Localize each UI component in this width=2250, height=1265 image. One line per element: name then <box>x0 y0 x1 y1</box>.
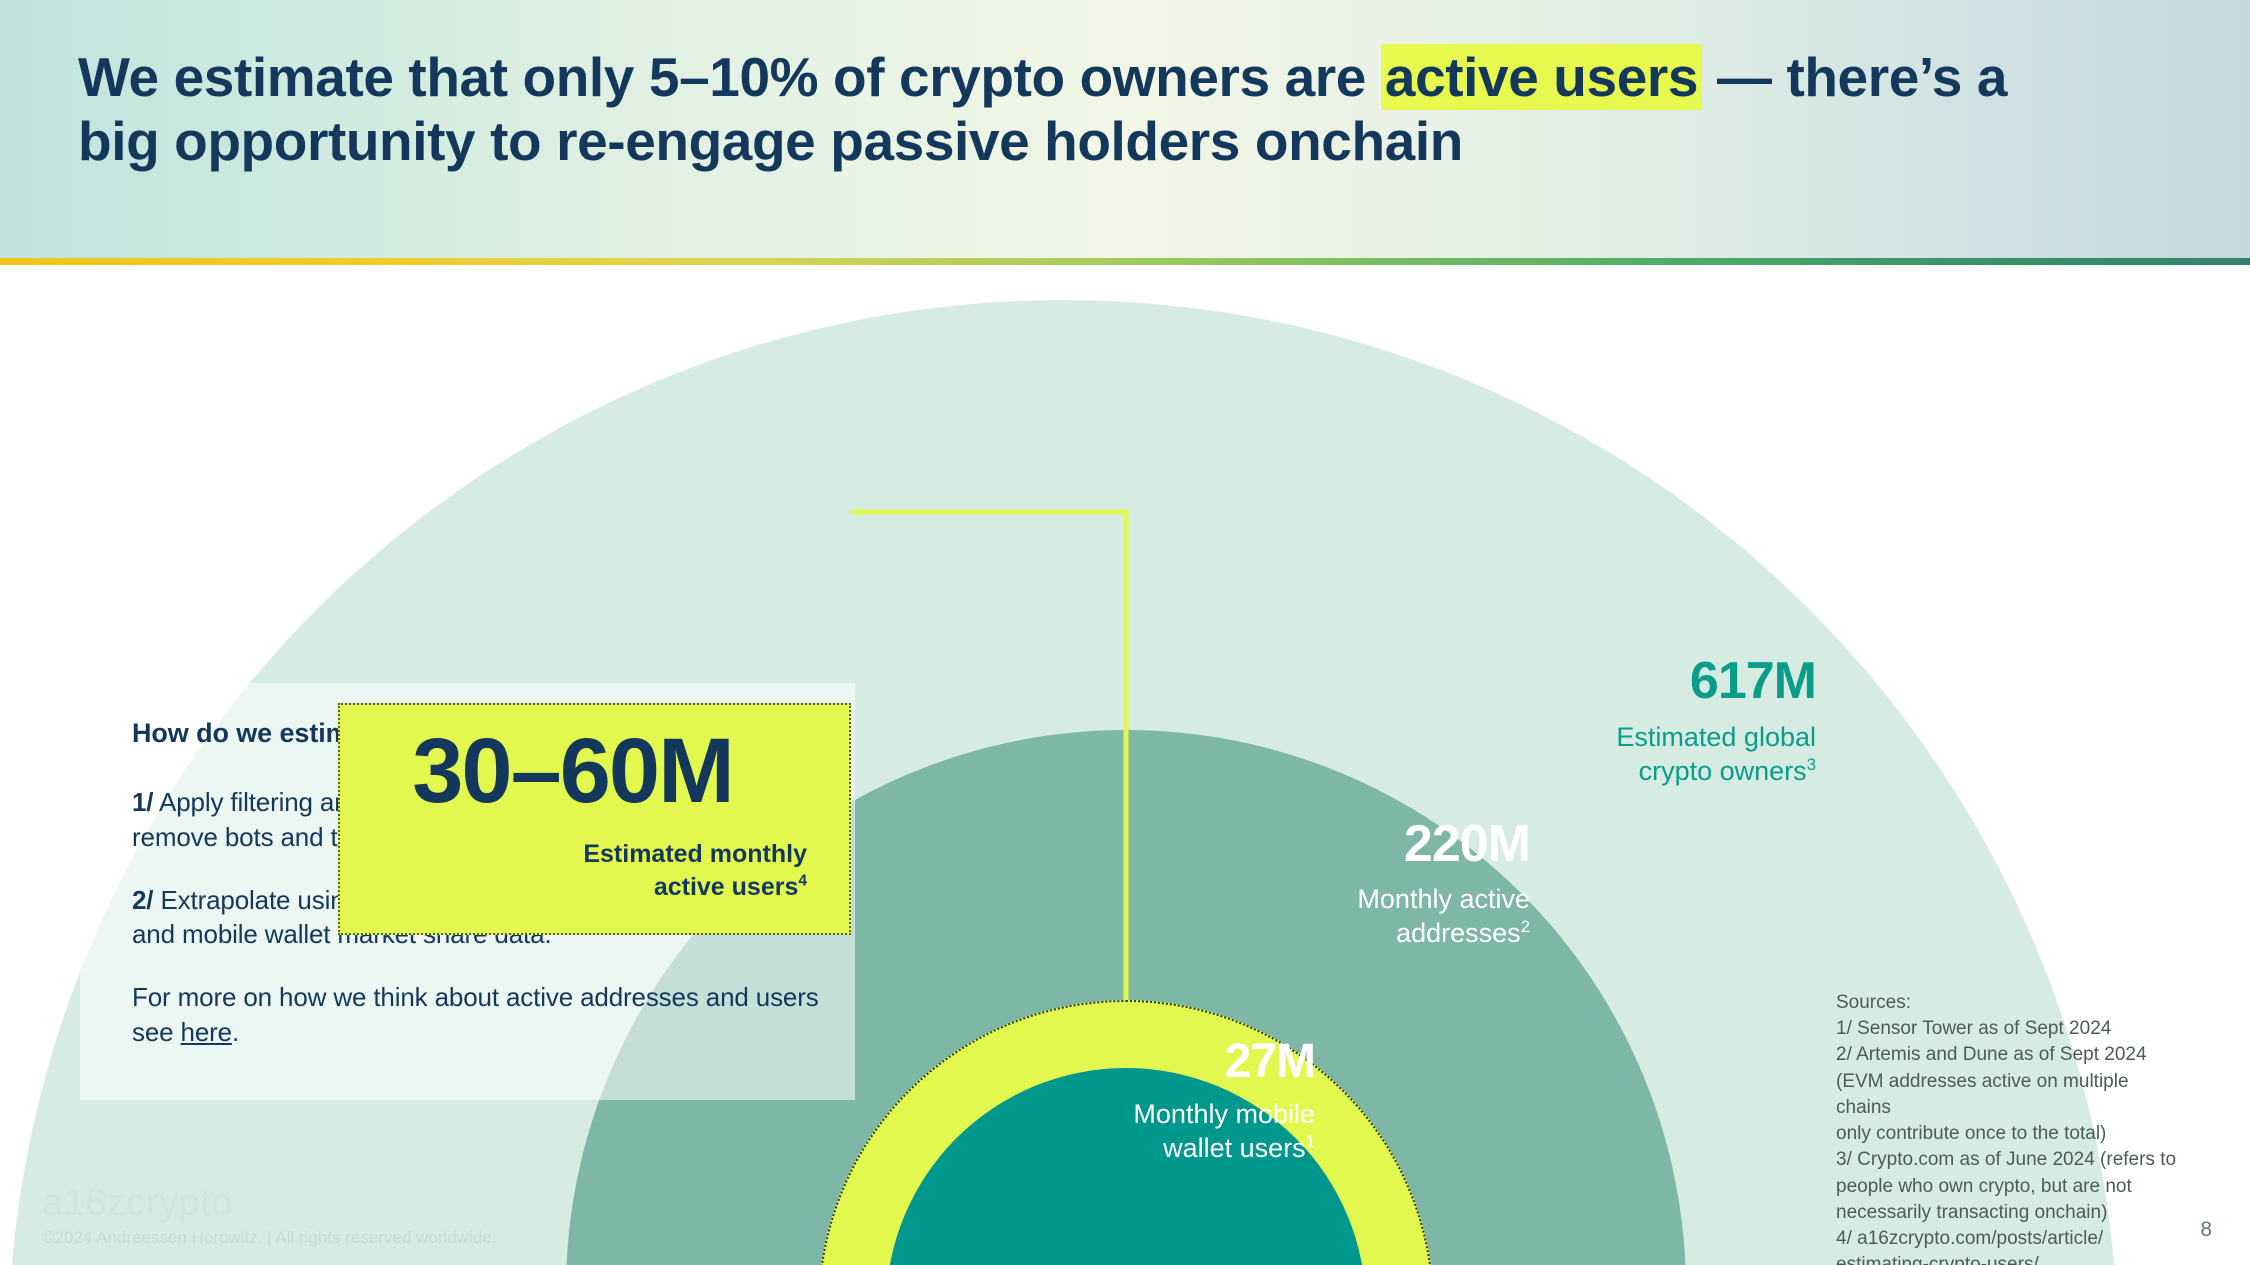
step-1-marker: 1/ <box>132 787 153 817</box>
slide-root: We estimate that only 5–10% of crypto ow… <box>0 0 2250 1265</box>
label-crypto-owners-sub: Estimated globalcrypto owners3 <box>1456 721 1816 789</box>
para-3-text-b: . <box>232 1017 239 1047</box>
label-crypto-owners-footnote: 3 <box>1807 755 1816 774</box>
label-mobile-wallet-users-footnote: 1 <box>1306 1132 1315 1151</box>
callout-value: 30–60M <box>340 723 805 820</box>
copyright-notice: ©2024 Andreessen Horowitz. | All rights … <box>42 1228 496 1248</box>
label-active-addresses-sub: Monthly activeaddresses2 <box>1060 883 1530 951</box>
callout-sub-line1: Estimated monthly <box>583 840 807 868</box>
label-crypto-owners-line1: Estimated global <box>1616 722 1816 752</box>
label-active-addresses-line1: Monthly active <box>1357 884 1530 914</box>
callout-active-users: 30–60M Estimated monthlyactive users4 <box>338 703 851 935</box>
label-mobile-wallet-users-line1: Monthly mobile <box>1133 1099 1315 1129</box>
slide-header: We estimate that only 5–10% of crypto ow… <box>0 0 2250 263</box>
sources-note: Sources: 1/ Sensor Tower as of Sept 2024… <box>1836 990 2186 1265</box>
label-mobile-wallet-users: 27M Monthly mobilewallet users1 <box>860 1038 1315 1166</box>
label-mobile-wallet-users-line2: wallet users <box>1163 1133 1306 1163</box>
step-2-marker: 2/ <box>132 885 153 915</box>
label-mobile-wallet-users-value: 27M <box>860 1038 1315 1086</box>
here-link[interactable]: here <box>181 1017 232 1047</box>
label-active-addresses-line2: addresses <box>1396 918 1521 948</box>
label-active-addresses-footnote: 2 <box>1521 917 1530 936</box>
label-active-addresses-value: 220M <box>1060 818 1530 870</box>
panel-para-3: For more on how we think about active ad… <box>132 980 832 1050</box>
label-active-addresses: 220M Monthly activeaddresses2 <box>1060 818 1530 951</box>
page-title: We estimate that only 5–10% of crypto ow… <box>78 45 2078 174</box>
label-mobile-wallet-users-sub: Monthly mobilewallet users1 <box>860 1098 1315 1166</box>
label-crypto-owners: 617M Estimated globalcrypto owners3 <box>1456 655 1816 789</box>
diagram-canvas: How do we estimate crypto users? 1/ Appl… <box>0 263 2250 1265</box>
a16zcrypto-logo: a16zcrypto <box>42 1182 233 1225</box>
header-gradient-rule <box>0 258 2250 265</box>
page-number: 8 <box>2200 1218 2212 1242</box>
callout-sub-line2: active users <box>654 873 799 901</box>
callout-footnote: 4 <box>798 872 807 889</box>
title-highlight: active users <box>1381 44 1702 110</box>
callout-subtitle: Estimated monthlyactive users4 <box>387 838 807 903</box>
label-crypto-owners-value: 617M <box>1456 655 1816 707</box>
label-crypto-owners-line2: crypto owners <box>1639 756 1807 786</box>
title-text-part1: We estimate that only 5–10% of crypto ow… <box>78 46 1381 108</box>
